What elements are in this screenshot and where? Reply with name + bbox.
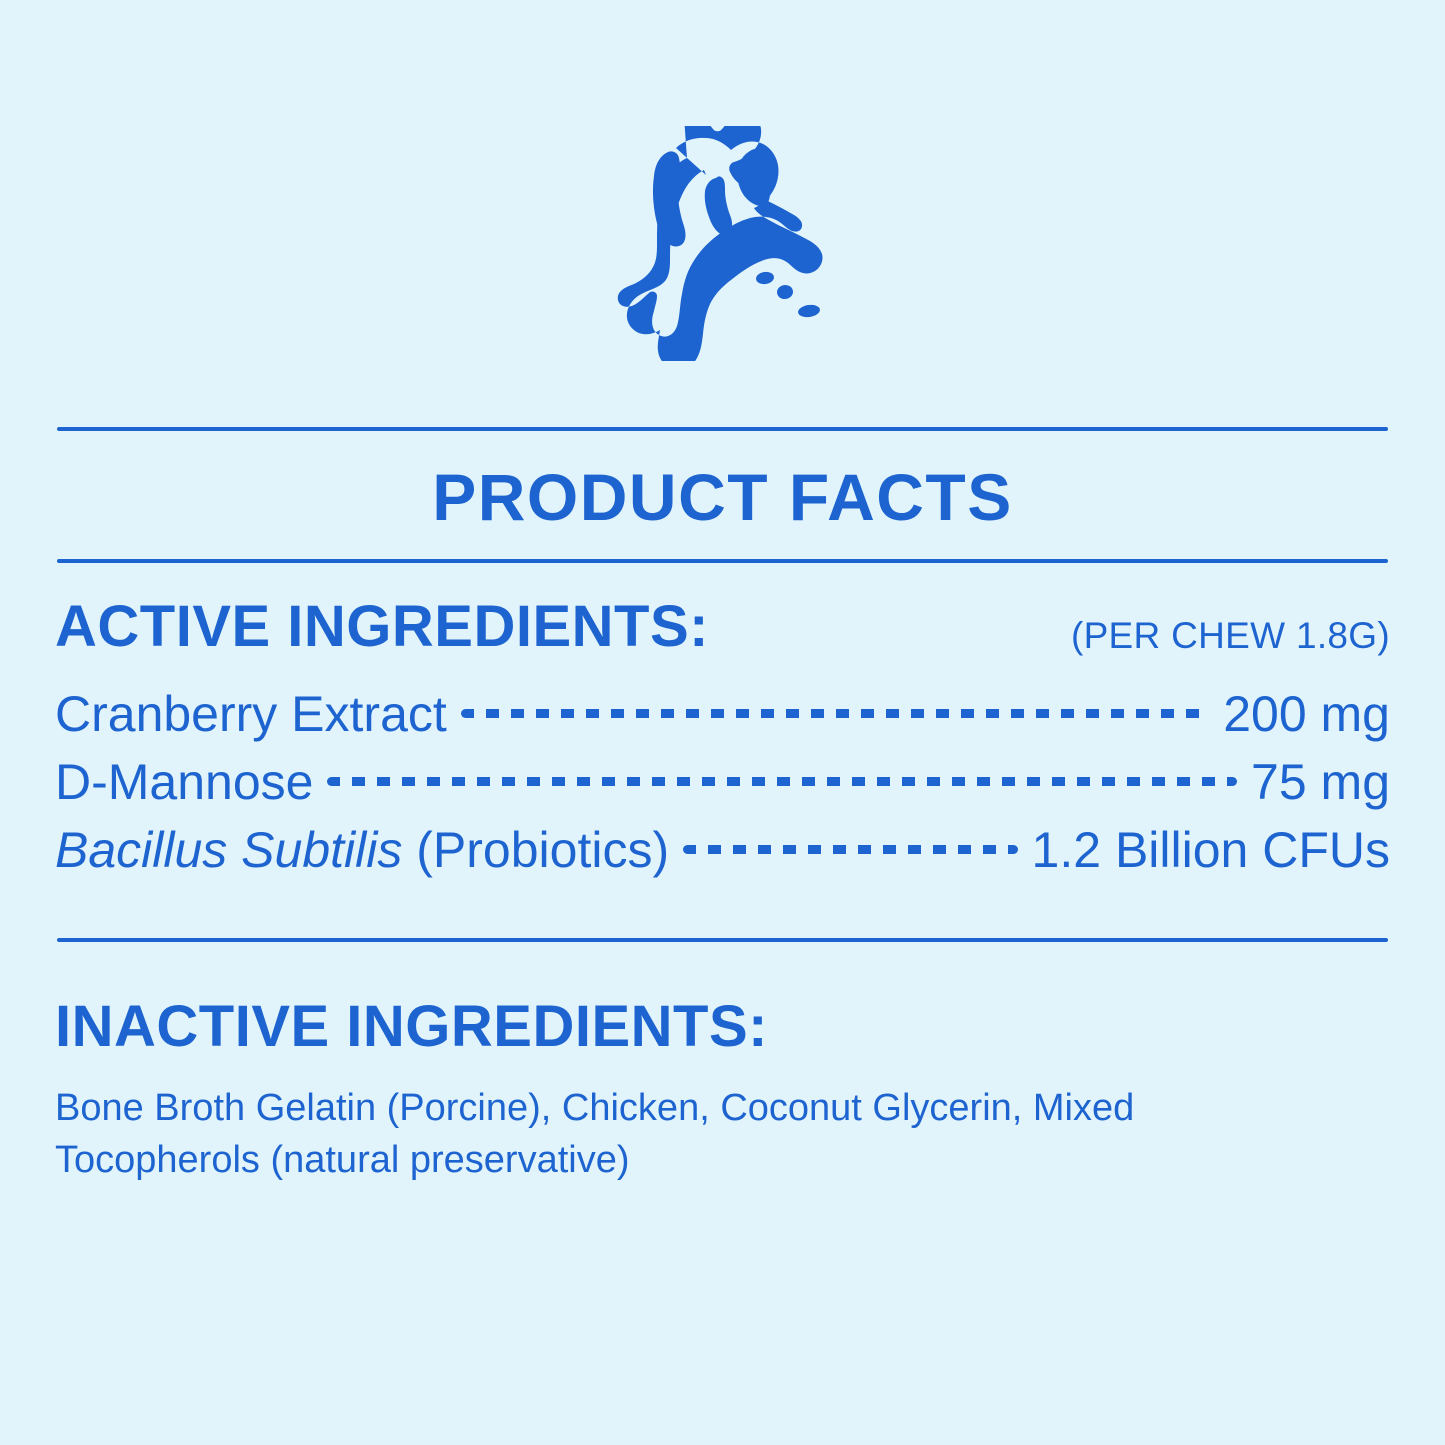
- ingredient-row: D-Mannose 75 mg: [55, 748, 1390, 816]
- ingredient-name-suffix: (Probiotics): [402, 822, 669, 878]
- dotted-leader: [327, 777, 1237, 786]
- ingredient-row: Bacillus Subtilis (Probiotics) 1.2 Billi…: [55, 816, 1390, 884]
- dog-head-drip-logo: [0, 108, 1445, 378]
- ingredient-amount: 1.2 Billion CFUs: [1032, 816, 1390, 884]
- ingredient-name: Cranberry Extract: [55, 680, 447, 748]
- ingredient-name: D-Mannose: [55, 748, 313, 816]
- dotted-leader: [461, 709, 1209, 718]
- ingredient-row: Cranberry Extract 200 mg: [55, 680, 1390, 748]
- ingredient-amount: 200 mg: [1223, 680, 1390, 748]
- inactive-ingredients-heading: INACTIVE INGREDIENTS:: [55, 995, 768, 1059]
- ingredient-name: Bacillus Subtilis (Probiotics): [55, 816, 669, 884]
- ingredient-name-scientific: Bacillus Subtilis: [55, 822, 402, 878]
- ingredient-name-text: D-Mannose: [55, 754, 313, 810]
- divider-under-active: [57, 938, 1388, 942]
- active-ingredients-heading: ACTIVE INGREDIENTS:: [55, 595, 709, 659]
- serving-size-note: (PER CHEW 1.8G): [1071, 614, 1390, 658]
- divider-top: [57, 427, 1388, 431]
- ingredient-name-text: Cranberry Extract: [55, 686, 447, 742]
- page-title: PRODUCT FACTS: [57, 448, 1388, 546]
- inactive-ingredients-text: Bone Broth Gelatin (Porcine), Chicken, C…: [55, 1082, 1215, 1186]
- divider-under-title: [57, 559, 1388, 563]
- product-facts-panel: PRODUCT FACTS ACTIVE INGREDIENTS: (PER C…: [0, 0, 1445, 1445]
- ingredient-amount: 75 mg: [1251, 748, 1390, 816]
- dotted-leader: [683, 845, 1017, 854]
- active-ingredients-list: Cranberry Extract 200 mg D-Mannose 75 mg…: [55, 680, 1390, 884]
